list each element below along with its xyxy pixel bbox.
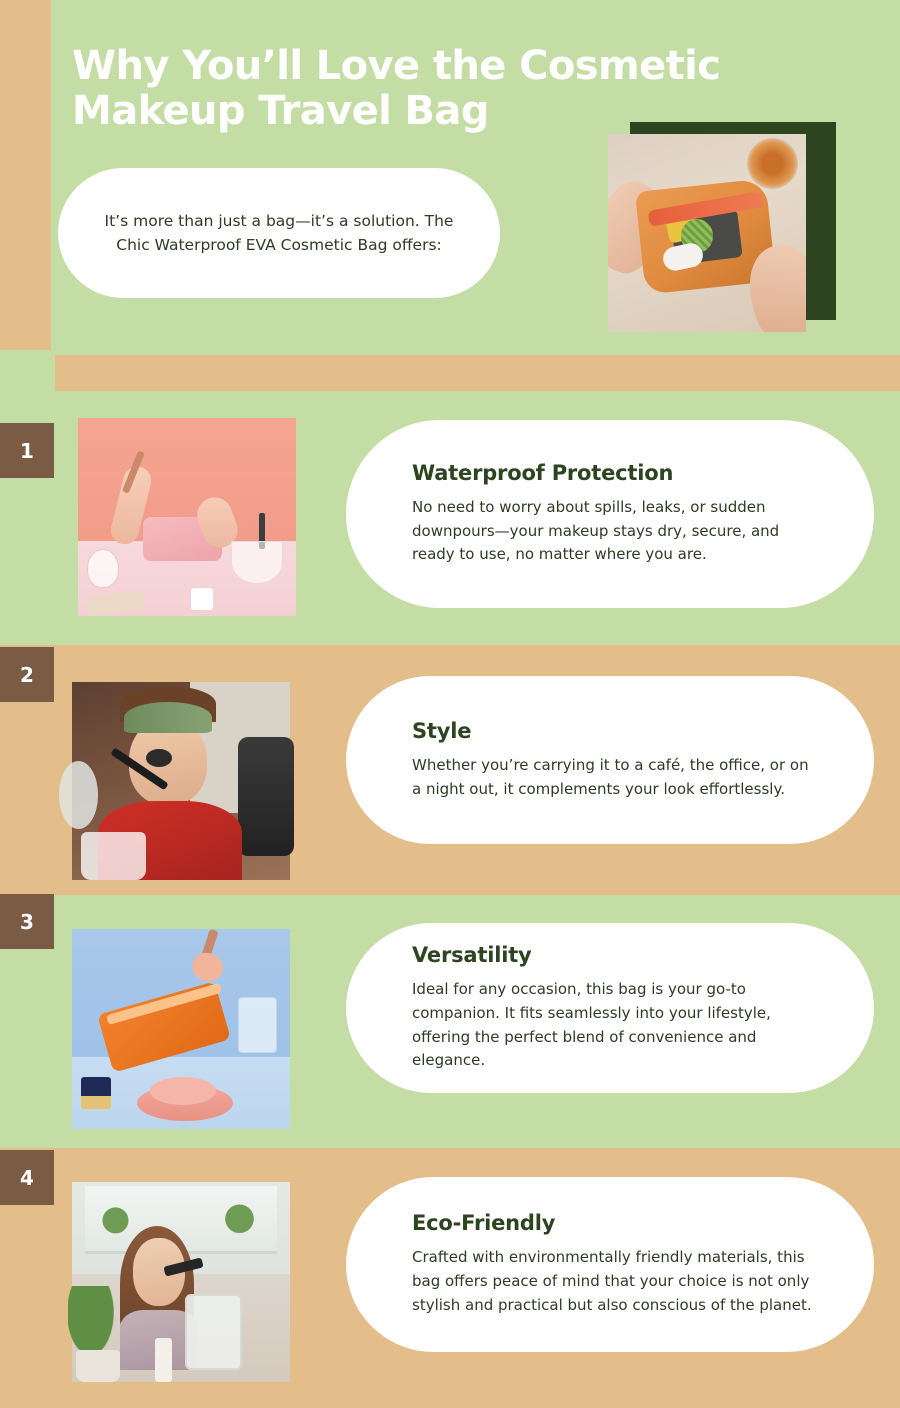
feature-body-3: Ideal for any occasion, this bag is your… (412, 978, 822, 1073)
feature-photo-3 (72, 929, 290, 1129)
header-photo-wrap (608, 122, 836, 332)
woman-brush-image (72, 682, 290, 880)
feature-photo-wrap-3 (72, 915, 312, 1130)
feature-photo-wrap-1 (78, 404, 318, 616)
intro-text: It’s more than just a bag—it’s a solutio… (104, 209, 454, 257)
feature-badge-2: 2 (0, 647, 54, 702)
feature-card-1: Waterproof Protection No need to worry a… (346, 420, 874, 608)
feature-photo-wrap-2 (72, 668, 312, 880)
feature-badge-1: 1 (0, 423, 54, 478)
feature-title-2: Style (412, 719, 822, 743)
header-left-accent-strip (0, 0, 51, 350)
feature-photo-wrap-4 (72, 1168, 312, 1383)
header-divider-bar (55, 355, 900, 391)
feature-card-2: Style Whether you’re carrying it to a ca… (346, 676, 874, 844)
feature-photo-2 (72, 682, 290, 880)
feature-body-4: Crafted with environmentally friendly ma… (412, 1246, 822, 1317)
intro-bubble: It’s more than just a bag—it’s a solutio… (58, 168, 500, 298)
feature-body-2: Whether you’re carrying it to a café, th… (412, 754, 822, 801)
orange-bag-blue-image (72, 929, 290, 1129)
infographic-page: Why You’ll Love the Cosmetic Makeup Trav… (0, 0, 900, 1408)
header-photo (608, 134, 806, 332)
pink-scene-image (78, 418, 296, 616)
feature-title-4: Eco-Friendly (412, 1211, 822, 1235)
feature-photo-4 (72, 1182, 290, 1382)
feature-badge-3: 3 (0, 894, 54, 949)
woman-vanity-image (72, 1182, 290, 1382)
feature-body-1: No need to worry about spills, leaks, or… (412, 496, 822, 567)
feature-card-3: Versatility Ideal for any occasion, this… (346, 923, 874, 1093)
feature-title-3: Versatility (412, 943, 822, 967)
feature-title-1: Waterproof Protection (412, 461, 822, 485)
feature-card-4: Eco-Friendly Crafted with environmentall… (346, 1177, 874, 1352)
hero-bag-image (608, 134, 806, 332)
page-title: Why You’ll Love the Cosmetic Makeup Trav… (72, 44, 832, 134)
feature-badge-4: 4 (0, 1150, 54, 1205)
feature-photo-1 (78, 418, 296, 616)
